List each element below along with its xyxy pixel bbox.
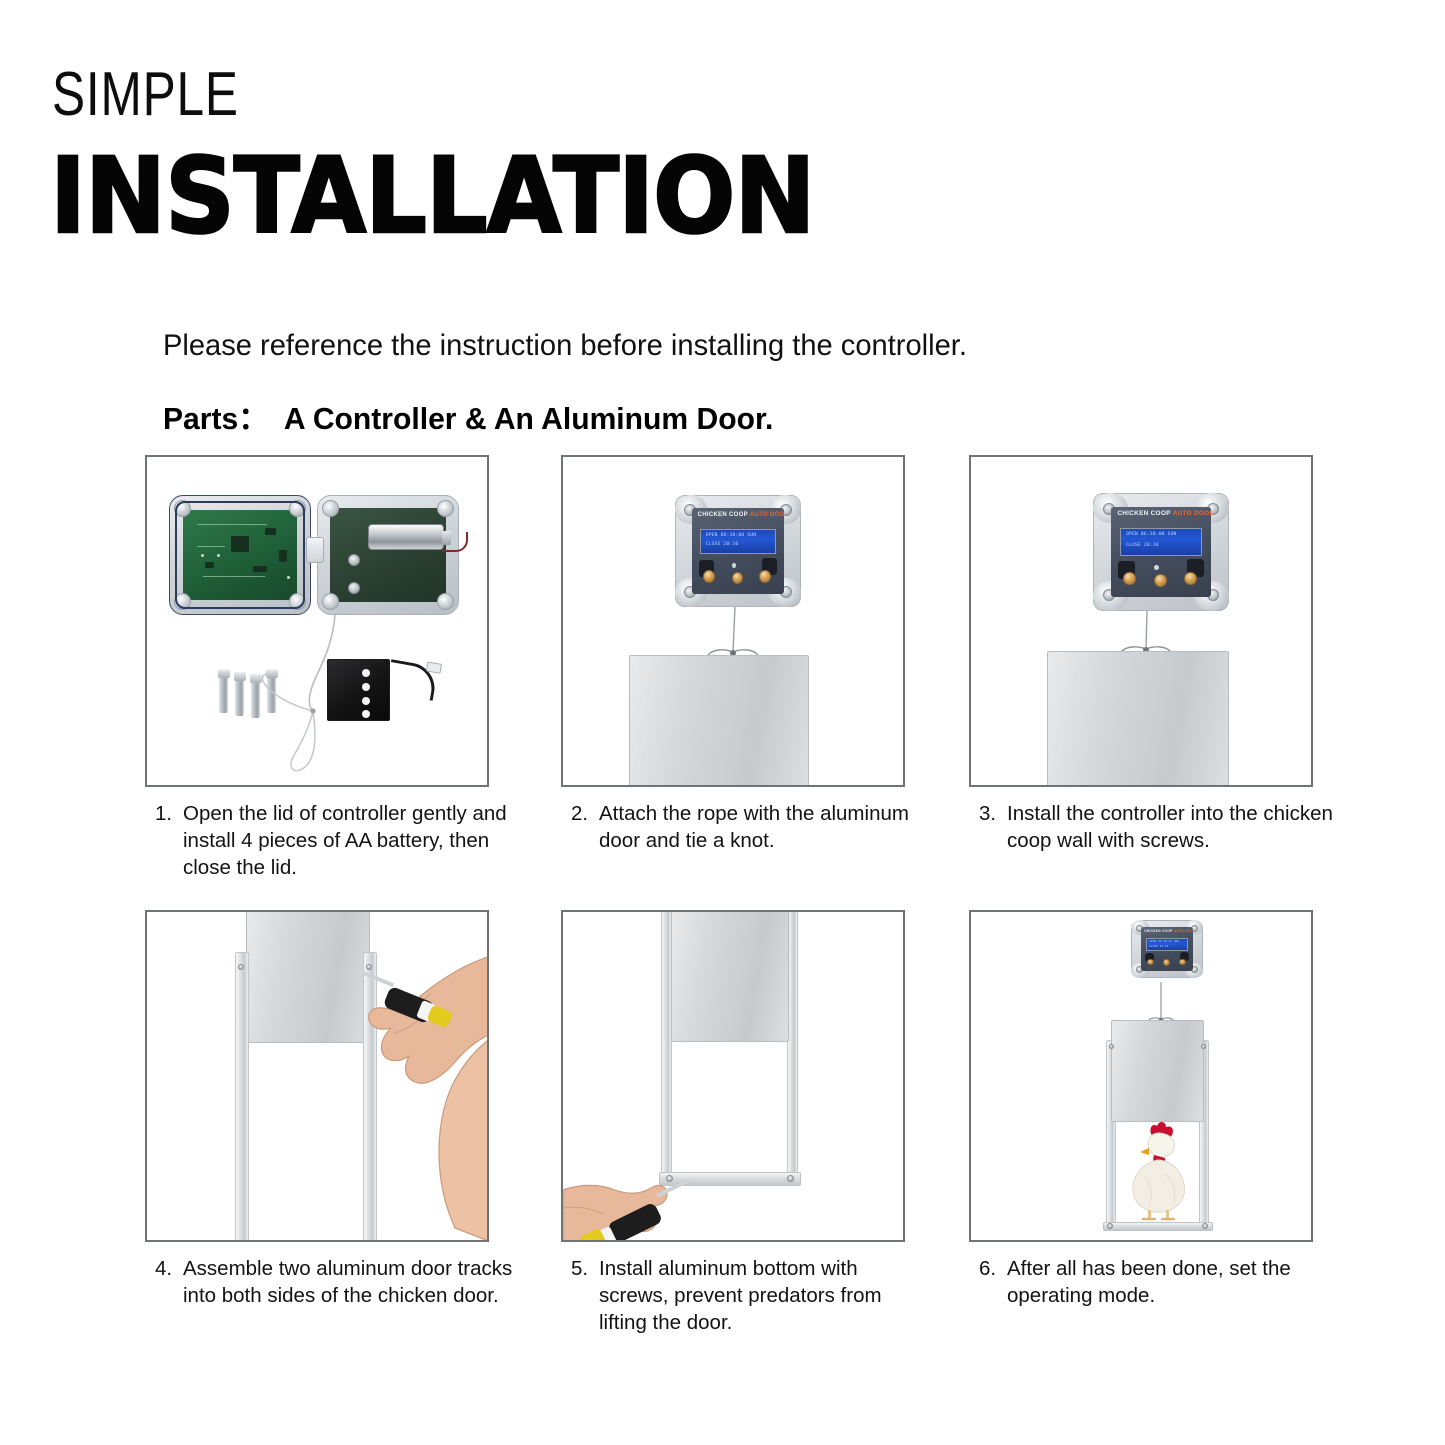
lcd-line2-2: CLOSE 20:10 <box>706 542 772 547</box>
step-number-5: 5. <box>571 1257 588 1280</box>
controller-lcd-6: OPEN 06:30:00 SUN CLOSE 20:10 <box>1146 938 1188 951</box>
lcd-line1-6: OPEN 06:30:00 SUN <box>1149 940 1185 943</box>
sliding-door-panel-5 <box>671 910 789 1042</box>
aluminum-bottom-rail-6 <box>1103 1222 1213 1231</box>
chicken-icon <box>1121 1118 1197 1222</box>
lcd-line1-2: OPEN 06:30:00 SUN <box>706 533 772 538</box>
step-caption-2: 2. Attach the rope with the aluminum doo… <box>571 800 931 854</box>
step-figure-1 <box>145 455 489 787</box>
lcd-line2-6: CLOSE 20:10 <box>1149 945 1185 948</box>
button-center-2[interactable] <box>732 572 744 585</box>
opened-controller-icon <box>169 495 469 615</box>
step-caption-1: 1. Open the lid of controller gently and… <box>155 800 515 881</box>
controller-base-with-motor <box>317 495 459 615</box>
aluminum-door-plate-3 <box>1047 651 1229 787</box>
step-number-4: 4. <box>155 1257 172 1280</box>
step-figure-6: CHICKEN COOP AUTO DOOR OPEN 06:30:00 SUN… <box>969 910 1313 1242</box>
button-center-6[interactable] <box>1163 959 1170 966</box>
step-number-3: 3. <box>979 802 996 825</box>
controller-icon-6: CHICKEN COOP AUTO DOOR OPEN 06:30:00 SUN… <box>1131 920 1203 978</box>
button-right-6[interactable] <box>1179 959 1186 966</box>
controller-faceplate-2: CHICKEN COOP AUTO DOOR OPEN 06:30:00 SUN… <box>692 508 784 594</box>
installation-infographic: SIMPLE INSTALLATION Please reference the… <box>0 0 1445 1445</box>
controller-brand-2: CHICKEN COOP AUTO DOOR <box>698 512 781 518</box>
step-figure-2: CHICKEN COOP AUTO DOOR OPEN 06:30:00 SUN… <box>561 455 905 787</box>
indicator-led-3[interactable] <box>1154 565 1159 570</box>
door-track-left <box>235 952 249 1242</box>
controller-lcd-2: OPEN 06:30:00 SUN CLOSE 20:10 <box>700 529 775 555</box>
step-figure-4 <box>145 910 489 1242</box>
hand-icon-5 <box>563 1186 667 1243</box>
button-left-2[interactable] <box>703 570 715 583</box>
controller-brand-6: CHICKEN COOP AUTO DOOR <box>1144 929 1191 933</box>
step-caption-5: 5. Install aluminum bottom with screws, … <box>571 1255 931 1336</box>
screws-group <box>219 669 279 715</box>
step-caption-4: 4. Assemble two aluminum door tracks int… <box>155 1255 515 1309</box>
step-text-3: Install the controller into the chicken … <box>979 800 1339 854</box>
raised-door-panel-6 <box>1111 1020 1204 1122</box>
battery-holder-icon <box>327 659 390 721</box>
step-text-4: Assemble two aluminum door tracks into b… <box>155 1255 515 1309</box>
aluminum-door-plate-2 <box>629 655 809 787</box>
button-center-3[interactable] <box>1154 574 1167 588</box>
step-text-1: Open the lid of controller gently and in… <box>155 800 515 881</box>
button-right-2[interactable] <box>759 570 771 583</box>
hand-icon-4 <box>369 956 489 1242</box>
step-caption-3: 3. Install the controller into the chick… <box>979 800 1339 854</box>
aluminum-bottom-rail <box>659 1172 801 1186</box>
door-track-right <box>363 952 377 1242</box>
step-caption-6: 6. After all has been done, set the oper… <box>979 1255 1339 1309</box>
step-number-1: 1. <box>155 802 172 825</box>
controller-faceplate-6: CHICKEN COOP AUTO DOOR OPEN 06:30:00 SUN… <box>1141 927 1193 971</box>
step-number-2: 2. <box>571 802 588 825</box>
screwdriver-icon-5 <box>579 1178 690 1242</box>
lcd-line2-3: CLOSE 20:10 <box>1126 543 1197 548</box>
button-right-3[interactable] <box>1184 572 1197 586</box>
controller-lcd-3: OPEN 06:30:00 SUN CLOSE 20:10 <box>1120 528 1201 555</box>
controller-faceplate-3: CHICKEN COOP AUTO DOOR OPEN 06:30:00 SUN… <box>1111 507 1210 597</box>
controller-icon-2: CHICKEN COOP AUTO DOOR OPEN 06:30:00 SUN… <box>675 495 801 607</box>
lcd-line1-3: OPEN 06:30:00 SUN <box>1126 532 1197 537</box>
button-left-6[interactable] <box>1147 959 1154 966</box>
step-text-5: Install aluminum bottom with screws, pre… <box>571 1255 931 1336</box>
hinge-icon <box>306 537 324 563</box>
chicken-door-panel-4 <box>246 910 370 1043</box>
button-left-3[interactable] <box>1123 572 1136 586</box>
circuit-board-icon <box>183 510 297 600</box>
motor-bay <box>330 508 446 602</box>
step-text-2: Attach the rope with the aluminum door a… <box>571 800 931 854</box>
step-figure-3: CHICKEN COOP AUTO DOOR OPEN 06:30:00 SUN… <box>969 455 1313 787</box>
controller-lid-with-pcb <box>169 495 311 615</box>
controller-icon-3: CHICKEN COOP AUTO DOOR OPEN 06:30:00 SUN… <box>1093 493 1229 611</box>
controller-brand-3: CHICKEN COOP AUTO DOOR <box>1117 510 1206 517</box>
step-figure-5 <box>561 910 905 1242</box>
step-number-6: 6. <box>979 1257 996 1280</box>
step-text-6: After all has been done, set the operati… <box>979 1255 1339 1309</box>
motor-wire <box>442 532 468 552</box>
indicator-led-2[interactable] <box>732 563 737 568</box>
steps-grid: 1. Open the lid of controller gently and… <box>0 0 1445 1445</box>
battery-wire <box>385 659 438 701</box>
motor-icon <box>368 524 444 550</box>
